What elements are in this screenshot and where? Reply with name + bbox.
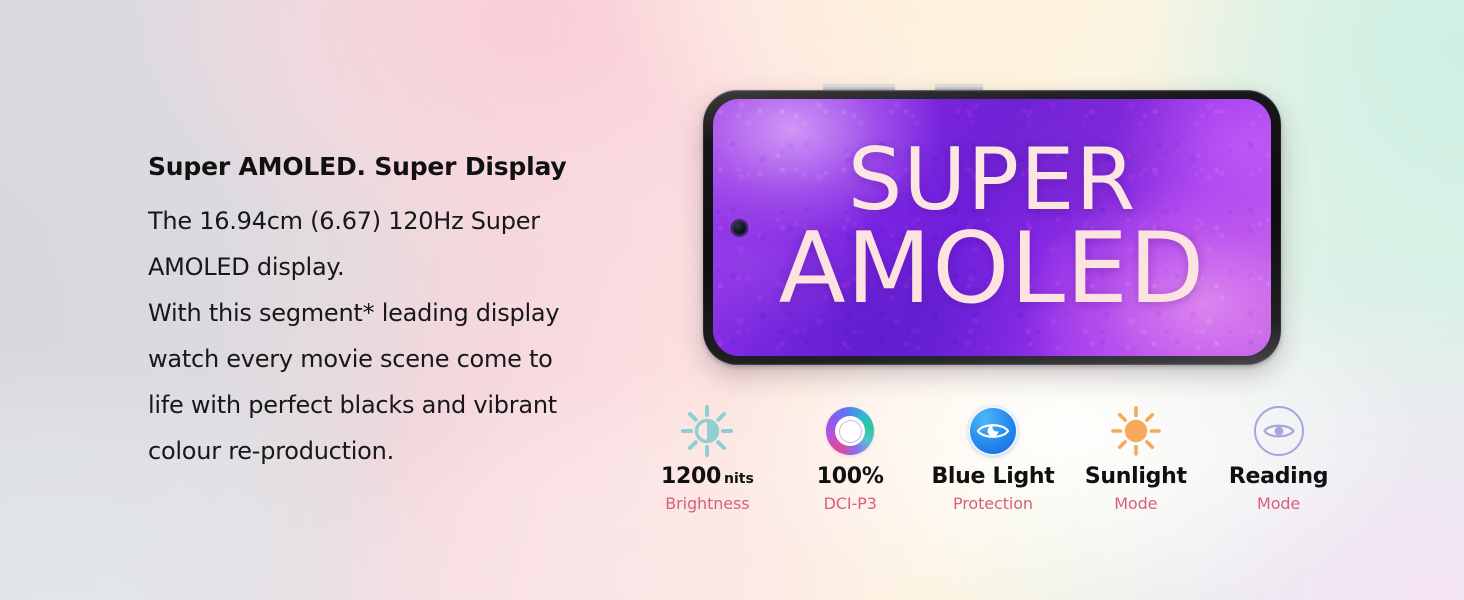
product-feature-banner: Super AMOLED. Super Display The 16.94cm … — [0, 0, 1464, 600]
body-line-2: AMOLED display. — [148, 244, 648, 290]
phone-device: SUPER AMOLED — [703, 90, 1281, 365]
feature-value-number: 100% — [817, 464, 884, 489]
body-line-6: colour re-production. — [148, 428, 648, 474]
phone-screen: SUPER AMOLED — [713, 99, 1271, 356]
feature-value-number: Reading — [1229, 464, 1328, 489]
feature-value-number: Sunlight — [1085, 464, 1187, 489]
feature-sublabel: Brightness — [665, 496, 749, 512]
feature-icon-box — [1108, 396, 1164, 466]
feature-sublabel: Protection — [953, 496, 1033, 512]
page-title: Super AMOLED. Super Display — [148, 152, 648, 182]
color-gamut-ring-inner — [839, 420, 862, 443]
feature-value: Blue Light — [931, 466, 1054, 488]
feature-icon-box — [826, 396, 874, 466]
color-gamut-ring-hole — [835, 416, 865, 446]
body-line-3: With this segment* leading display — [148, 290, 648, 336]
screen-headline: SUPER AMOLED — [713, 99, 1271, 356]
body-line-1: The 16.94cm (6.67) 120Hz Super — [148, 198, 648, 244]
feature-value: 100% — [817, 466, 884, 488]
feature-color-gamut: 100% DCI-P3 — [779, 396, 922, 512]
feature-icon-box — [1254, 396, 1304, 466]
feature-strip: 1200nits Brightness 100% DCI-P3 — [636, 396, 1350, 512]
body-line-4: watch every movie scene come to — [148, 336, 648, 382]
body-line-5: life with perfect blacks and vibrant — [148, 382, 648, 428]
feature-sublabel: Mode — [1257, 496, 1300, 512]
feature-value-unit: nits — [724, 471, 754, 487]
feature-value-number: 1200 — [661, 464, 721, 489]
brightness-sun-icon — [679, 403, 735, 459]
phone-frame: SUPER AMOLED — [703, 90, 1281, 365]
feature-value-number: Blue Light — [931, 464, 1054, 489]
feature-sublabel: DCI-P3 — [824, 496, 877, 512]
feature-brightness: 1200nits Brightness — [636, 396, 779, 512]
feature-blue-light: Blue Light Protection — [922, 396, 1065, 512]
copy-block: Super AMOLED. Super Display The 16.94cm … — [148, 152, 648, 474]
feature-sublabel: Mode — [1114, 496, 1157, 512]
screen-headline-line-2: AMOLED — [779, 223, 1206, 315]
blue-light-eye-icon — [968, 406, 1018, 456]
reading-eye-icon — [1254, 406, 1304, 456]
feature-value: 1200nits — [661, 466, 754, 488]
screen-headline-line-1: SUPER — [848, 140, 1137, 221]
color-gamut-ring-icon — [826, 407, 874, 455]
feature-icon-box — [679, 396, 735, 466]
sunlight-sun-icon — [1108, 403, 1164, 459]
feature-reading: Reading Mode — [1207, 396, 1350, 512]
feature-value: Reading — [1229, 466, 1328, 488]
feature-value: Sunlight — [1085, 466, 1187, 488]
feature-icon-box — [968, 396, 1018, 466]
feature-sunlight: Sunlight Mode — [1064, 396, 1207, 512]
